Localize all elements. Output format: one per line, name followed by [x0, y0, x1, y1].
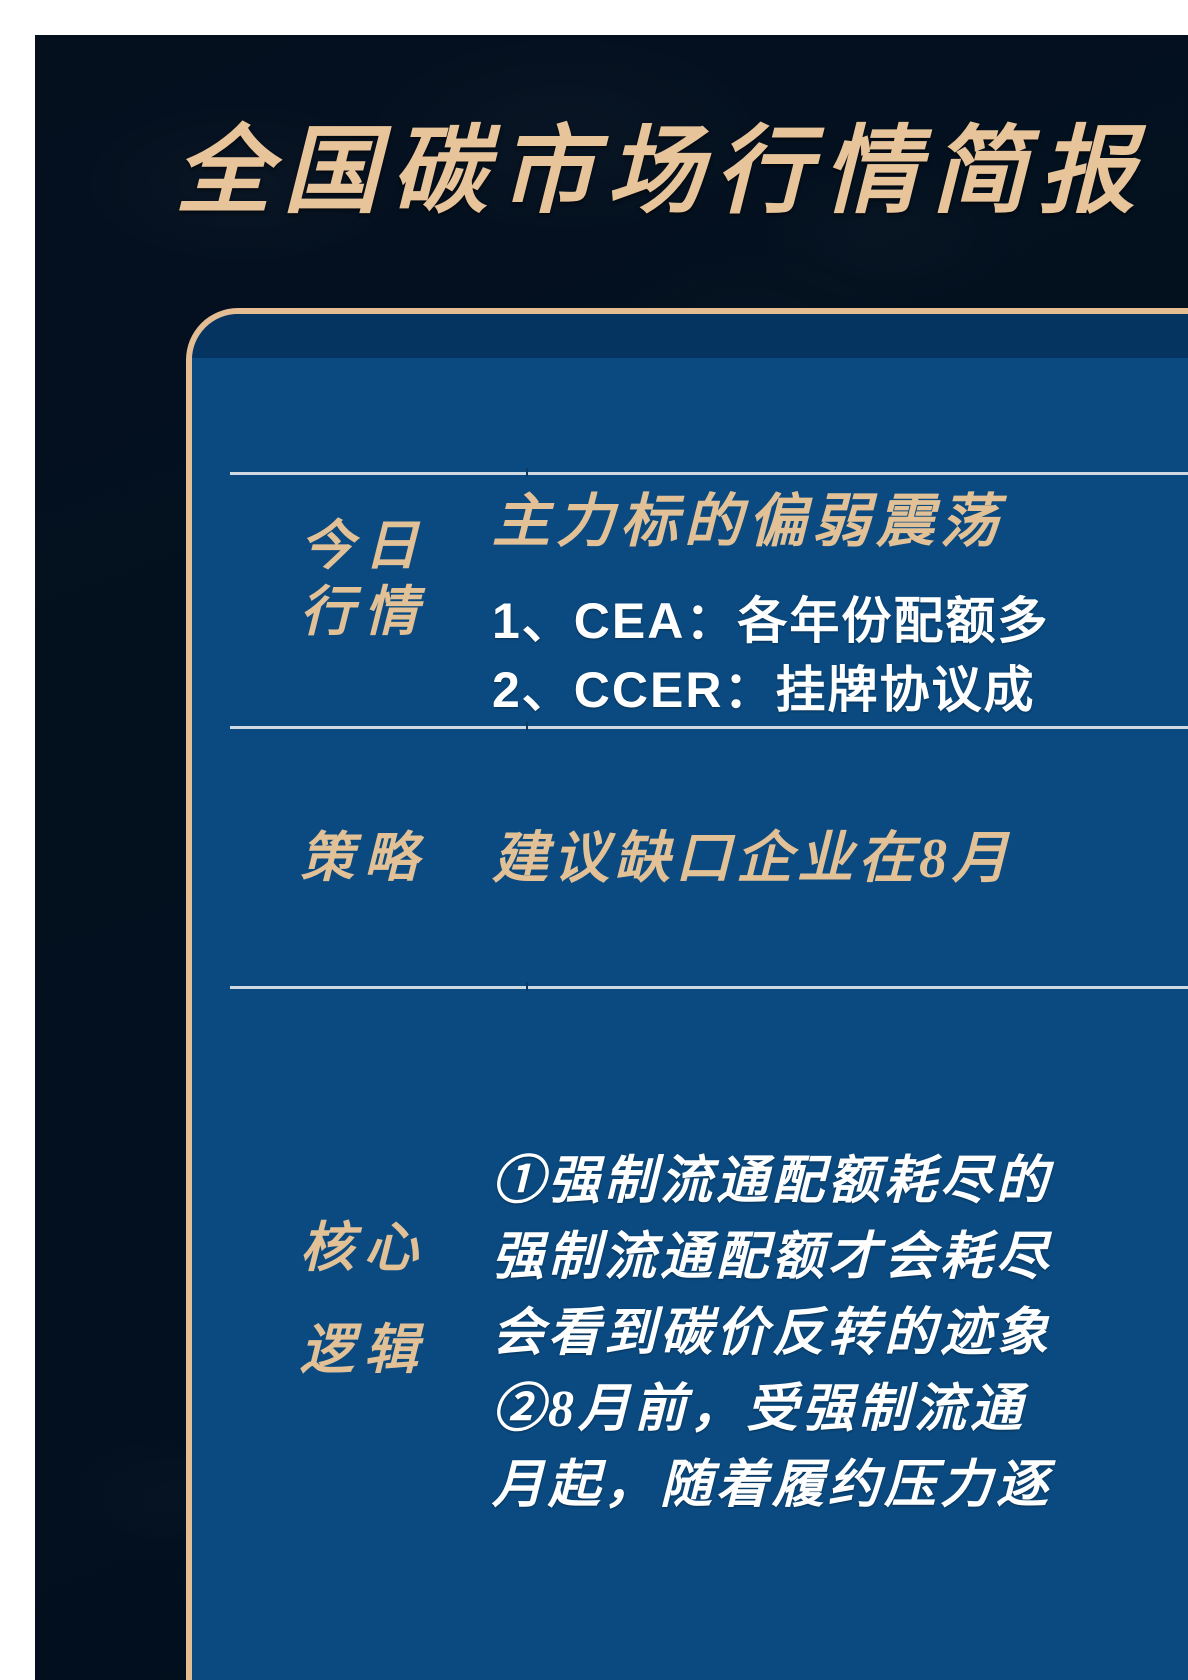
table-row: 今日 行情 主力标的偏弱震荡 1、CEA：各年份配额多 2、CCER：挂牌协议成 — [192, 358, 1188, 726]
today-market-heading: 主力标的偏弱震荡 — [492, 486, 1188, 559]
column-tick — [526, 982, 528, 991]
page-title: 全国碳市场行情简报 — [175, 113, 1188, 230]
briefing-table: 今日 行情 主力标的偏弱震荡 1、CEA：各年份配额多 2、CCER：挂牌协议成… — [192, 358, 1188, 1680]
row-label-core-logic: 核心 逻辑 — [230, 1216, 488, 1384]
card-header-band — [192, 314, 1188, 358]
column-tick — [526, 468, 528, 477]
core-logic-line-5: 月起，随着履约压力逐 — [492, 1448, 1188, 1524]
column-tick — [526, 722, 528, 731]
row-label-line-1: 策略 — [230, 826, 488, 892]
row-divider — [230, 726, 1188, 729]
row-divider — [230, 986, 1188, 989]
core-logic-line-3: 会看到碳价反转的迹象 — [492, 1296, 1188, 1372]
row-body-strategy: 建议缺口企业在8月 — [492, 824, 1188, 894]
strategy-line: 建议缺口企业在8月 — [492, 824, 1188, 894]
row-label-today-market: 今日 行情 — [230, 514, 488, 646]
row-divider — [230, 472, 1188, 475]
today-market-line-cea: 1、CEA：各年份配额多 — [492, 587, 1188, 656]
row-label-strategy: 策略 — [230, 826, 488, 892]
core-logic-line-2: 强制流通配额才会耗尽 — [492, 1220, 1188, 1296]
poster-root: 全国碳市场行情简报 今日 行情 主力标的偏弱震荡 1、CEA：各年份配额多 2、… — [35, 35, 1188, 1680]
core-logic-line-4: ②8月前，受强制流通 — [492, 1372, 1188, 1448]
row-label-line-2: 行情 — [230, 580, 488, 646]
row-body-core-logic: ①强制流通配额耗尽的 强制流通配额才会耗尽 会看到碳价反转的迹象 ②8月前，受强… — [492, 1144, 1188, 1524]
row-body-today-market: 主力标的偏弱震荡 1、CEA：各年份配额多 2、CCER：挂牌协议成 — [492, 486, 1188, 725]
table-row: 核心 逻辑 ①强制流通配额耗尽的 强制流通配额才会耗尽 会看到碳价反转的迹象 ②… — [192, 986, 1188, 1680]
row-label-line-2: 逻辑 — [230, 1318, 488, 1384]
briefing-card: 今日 行情 主力标的偏弱震荡 1、CEA：各年份配额多 2、CCER：挂牌协议成… — [186, 308, 1188, 1680]
today-market-line-ccer: 2、CCER：挂牌协议成 — [492, 656, 1188, 725]
core-logic-line-1: ①强制流通配额耗尽的 — [492, 1144, 1188, 1220]
row-label-line-1: 核心 — [230, 1216, 488, 1282]
row-label-line-1: 今日 — [230, 514, 488, 580]
table-row: 策略 建议缺口企业在8月 — [192, 726, 1188, 986]
